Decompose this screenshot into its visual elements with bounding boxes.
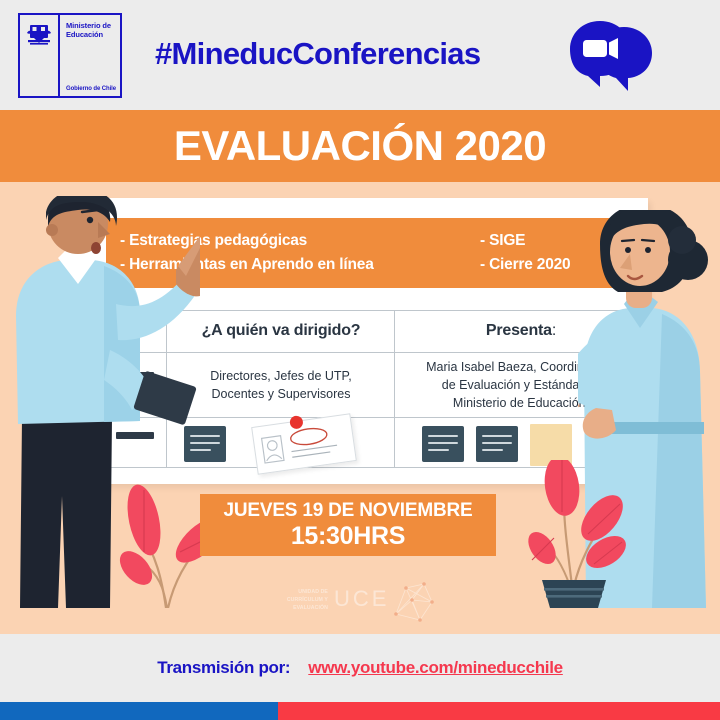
ministry-name-line1: Ministerio de	[66, 21, 116, 30]
uce-logo: UNIDAD DE CURRÍCULUM Y EVALUACIÓN UCE	[286, 578, 436, 626]
youtube-link[interactable]: www.youtube.com/mineducchile	[308, 658, 563, 678]
flag-blue-segment	[0, 702, 278, 720]
potted-red-leaf-plant-icon	[510, 460, 636, 608]
poster-root: Ministerio de Educación Gobierno de Chil…	[0, 0, 720, 720]
flag-red-segment	[278, 702, 720, 720]
illustration-stage: - Estrategias pedagógicas - SIGE - Herra…	[0, 182, 720, 634]
ministry-logo: Ministerio de Educación Gobierno de Chil…	[18, 13, 122, 98]
table-col-divider-2	[394, 310, 395, 467]
video-camera-chat-bubble-icon	[566, 17, 658, 95]
network-nodes-icon	[390, 580, 436, 624]
table-cell-audience: Directores, Jefes de UTP, Docentes y Sup…	[168, 354, 394, 414]
uce-subtitle-line1: UNIDAD DE	[286, 588, 328, 596]
document-card-icon	[476, 426, 518, 462]
document-card-icon	[422, 426, 464, 462]
uce-acronym: UCE	[334, 586, 389, 612]
chile-coat-of-arms-icon	[25, 23, 53, 47]
broadcast-label: Transmisión por:	[157, 658, 290, 678]
hashtag-title: #MineducConferencias	[155, 36, 480, 72]
header-bar: Ministerio de Educación Gobierno de Chil…	[0, 0, 720, 110]
logo-text-panel: Ministerio de Educación Gobierno de Chil…	[60, 15, 120, 96]
uce-subtitle-line2: CURRÍCULUM Y	[286, 596, 328, 604]
footer-bar: Transmisión por: www.youtube.com/mineduc…	[0, 634, 720, 702]
event-time: 15:30HRS	[291, 522, 405, 551]
government-label: Gobierno de Chile	[66, 86, 116, 92]
presenter-line-2: de Evaluación y Estándares,	[442, 377, 600, 395]
audience-line-2: Docentes y Supervisores	[212, 386, 351, 404]
event-date: JUEVES 19 DE NOVIEMBRE	[223, 500, 472, 522]
table-header-presenter-text: Presenta	[486, 322, 552, 340]
uce-subtitle: UNIDAD DE CURRÍCULUM Y EVALUACIÓN	[286, 588, 328, 612]
audience-line-1: Directores, Jefes de UTP,	[210, 368, 352, 386]
chile-flag-bar	[0, 702, 720, 720]
page-title: EVALUACIÓN 2020	[174, 122, 546, 170]
table-header-presenter-colon: :	[552, 322, 556, 340]
photo-sketch-icon	[251, 413, 357, 474]
topic-right-1: - SIGE	[480, 229, 525, 253]
event-date-box: JUEVES 19 DE NOVIEMBRE 15:30HRS	[200, 494, 496, 556]
presenter-line-3: Ministerio de Educación.	[453, 395, 589, 413]
table-header-audience: ¿A quién va dirigido?	[168, 314, 394, 348]
logo-emblem-panel	[20, 15, 60, 96]
topic-right-2: - Cierre 2020	[480, 253, 570, 277]
main-title-banner: EVALUACIÓN 2020	[0, 110, 720, 182]
ministry-name-line2: Educación	[66, 30, 116, 39]
uce-subtitle-line3: EVALUACIÓN	[286, 604, 328, 612]
